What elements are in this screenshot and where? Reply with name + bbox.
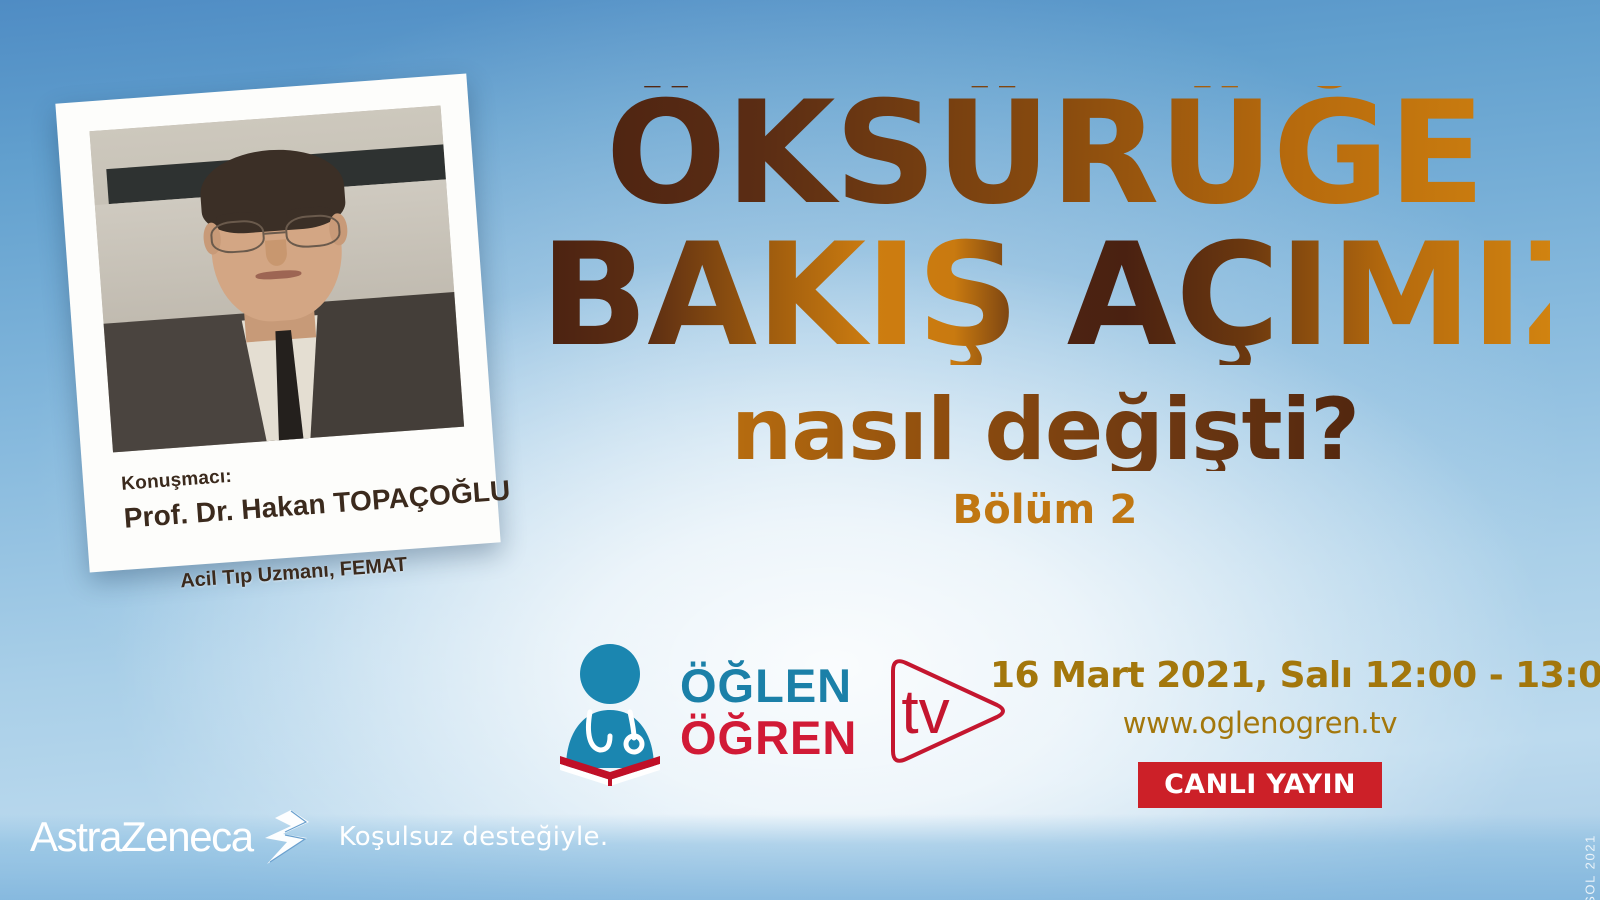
sponsor-note: Koşulsuz desteğiyle. [339, 822, 609, 852]
event-date: 16 Mart 2021, Salı 12:00 - 13:00 [990, 655, 1530, 696]
live-broadcast-badge[interactable]: CANLI YAYIN [1138, 762, 1382, 808]
brand-logo[interactable]: ÖĞLEN ÖĞREN tv [556, 636, 1007, 786]
event-info-block: 16 Mart 2021, Salı 12:00 - 13:00 www.ogl… [990, 655, 1530, 808]
headline-block: ÖKSÜRÜĞE BAKIŞ AÇIMIZ nasıl değişti? Böl… [540, 86, 1550, 533]
headline-episode: Bölüm 2 [540, 487, 1550, 533]
brand-word-oglen: ÖĞLEN [680, 662, 857, 709]
material-code: TR-6485 SUB SOL 2021 [1583, 834, 1598, 900]
brand-word-ogren: ÖĞREN [680, 714, 857, 761]
doctor-with-stethoscope-and-book-icon [556, 636, 664, 786]
headline-line-2: BAKIŞ AÇIMIZ [540, 228, 1550, 364]
astrazeneca-ribbon-logo [261, 808, 315, 866]
headline-line-1: ÖKSÜRÜĞE [540, 86, 1550, 222]
event-website[interactable]: www.oglenogren.tv [990, 706, 1530, 740]
sponsor-block: AstraZeneca Koşulsuz desteğiyle. [30, 808, 608, 866]
sponsor-name: AstraZeneca [30, 813, 253, 861]
speaker-portrait-illustration [89, 106, 464, 453]
headline-line-3: nasıl değişti? [540, 389, 1550, 472]
tv-label: tv [901, 677, 949, 748]
tv-play-mark: tv [879, 649, 1007, 773]
brand-wordmark: ÖĞLEN ÖĞREN [680, 662, 857, 761]
webinar-banner: Konuşmacı: Prof. Dr. Hakan TOPAÇOĞLU Aci… [0, 0, 1600, 900]
speaker-photo-card: Konuşmacı: Prof. Dr. Hakan TOPAÇOĞLU [55, 74, 500, 573]
speaker-photo [89, 106, 464, 453]
